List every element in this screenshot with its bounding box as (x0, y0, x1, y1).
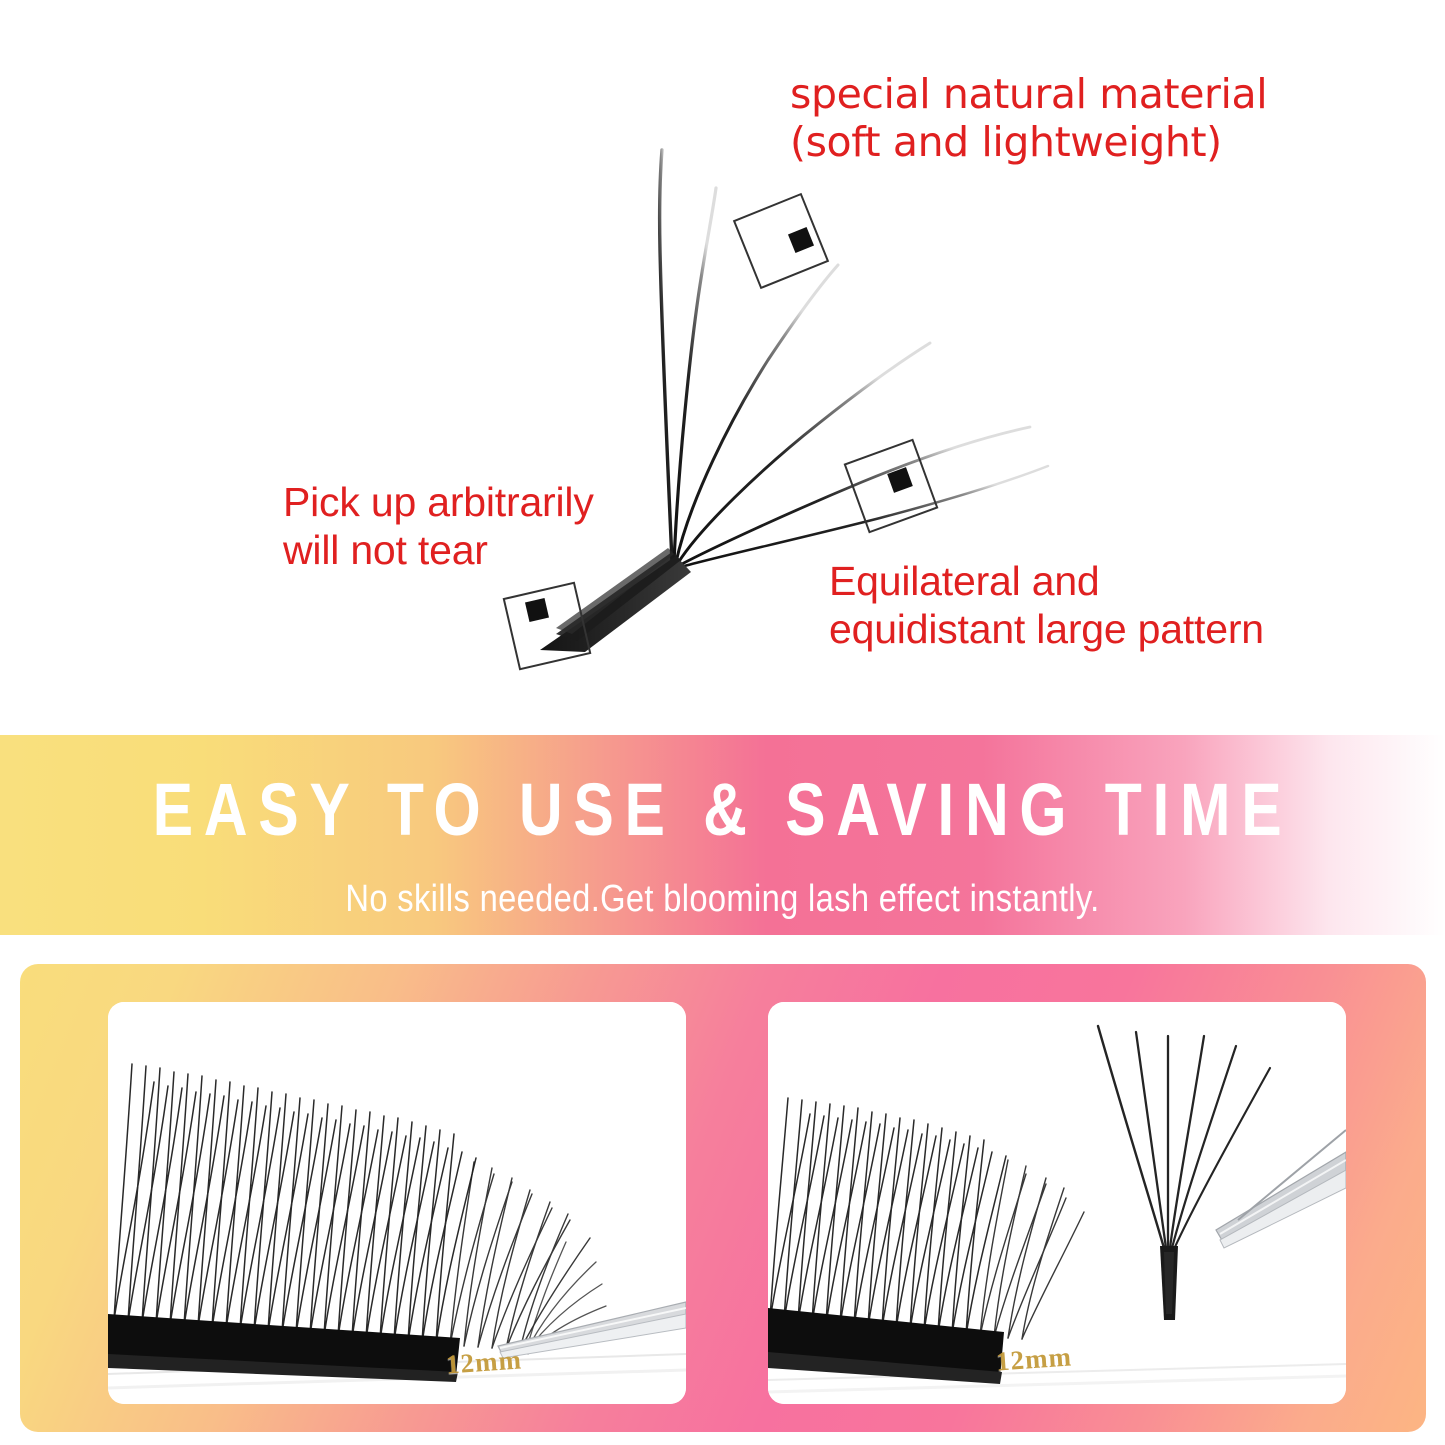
callout-label-no-tear: Pick up arbitrarily will not tear (283, 478, 594, 575)
product-infographic-page: special natural material (soft and light… (0, 0, 1445, 1445)
lash-strip-tray-icon (108, 1002, 686, 1404)
photo-card-lash-tray[interactable]: 12mm (108, 1002, 686, 1404)
callout-label-pattern: Equilateral and equidistant large patter… (829, 557, 1264, 654)
lash-length-label: 12mm (995, 1341, 1073, 1377)
banner-subheadline: No skills needed.Get blooming lash effec… (101, 878, 1344, 921)
callout-label-material: special natural material (soft and light… (790, 70, 1267, 167)
callout-marker-top (734, 194, 828, 288)
lash-fan-diagram-section: special natural material (soft and light… (0, 0, 1445, 735)
photo-card-picked-fan[interactable]: 12mm (768, 1002, 1346, 1404)
promo-banner: EASY TO USE & SAVING TIME No skills need… (0, 735, 1445, 935)
photo-gallery-panel: 12mm (20, 964, 1426, 1432)
lash-length-label: 12mm (445, 1344, 523, 1380)
lash-strands-group (660, 150, 1048, 567)
banner-headline: EASY TO USE & SAVING TIME (130, 767, 1315, 852)
callout-marker-right (845, 440, 937, 532)
